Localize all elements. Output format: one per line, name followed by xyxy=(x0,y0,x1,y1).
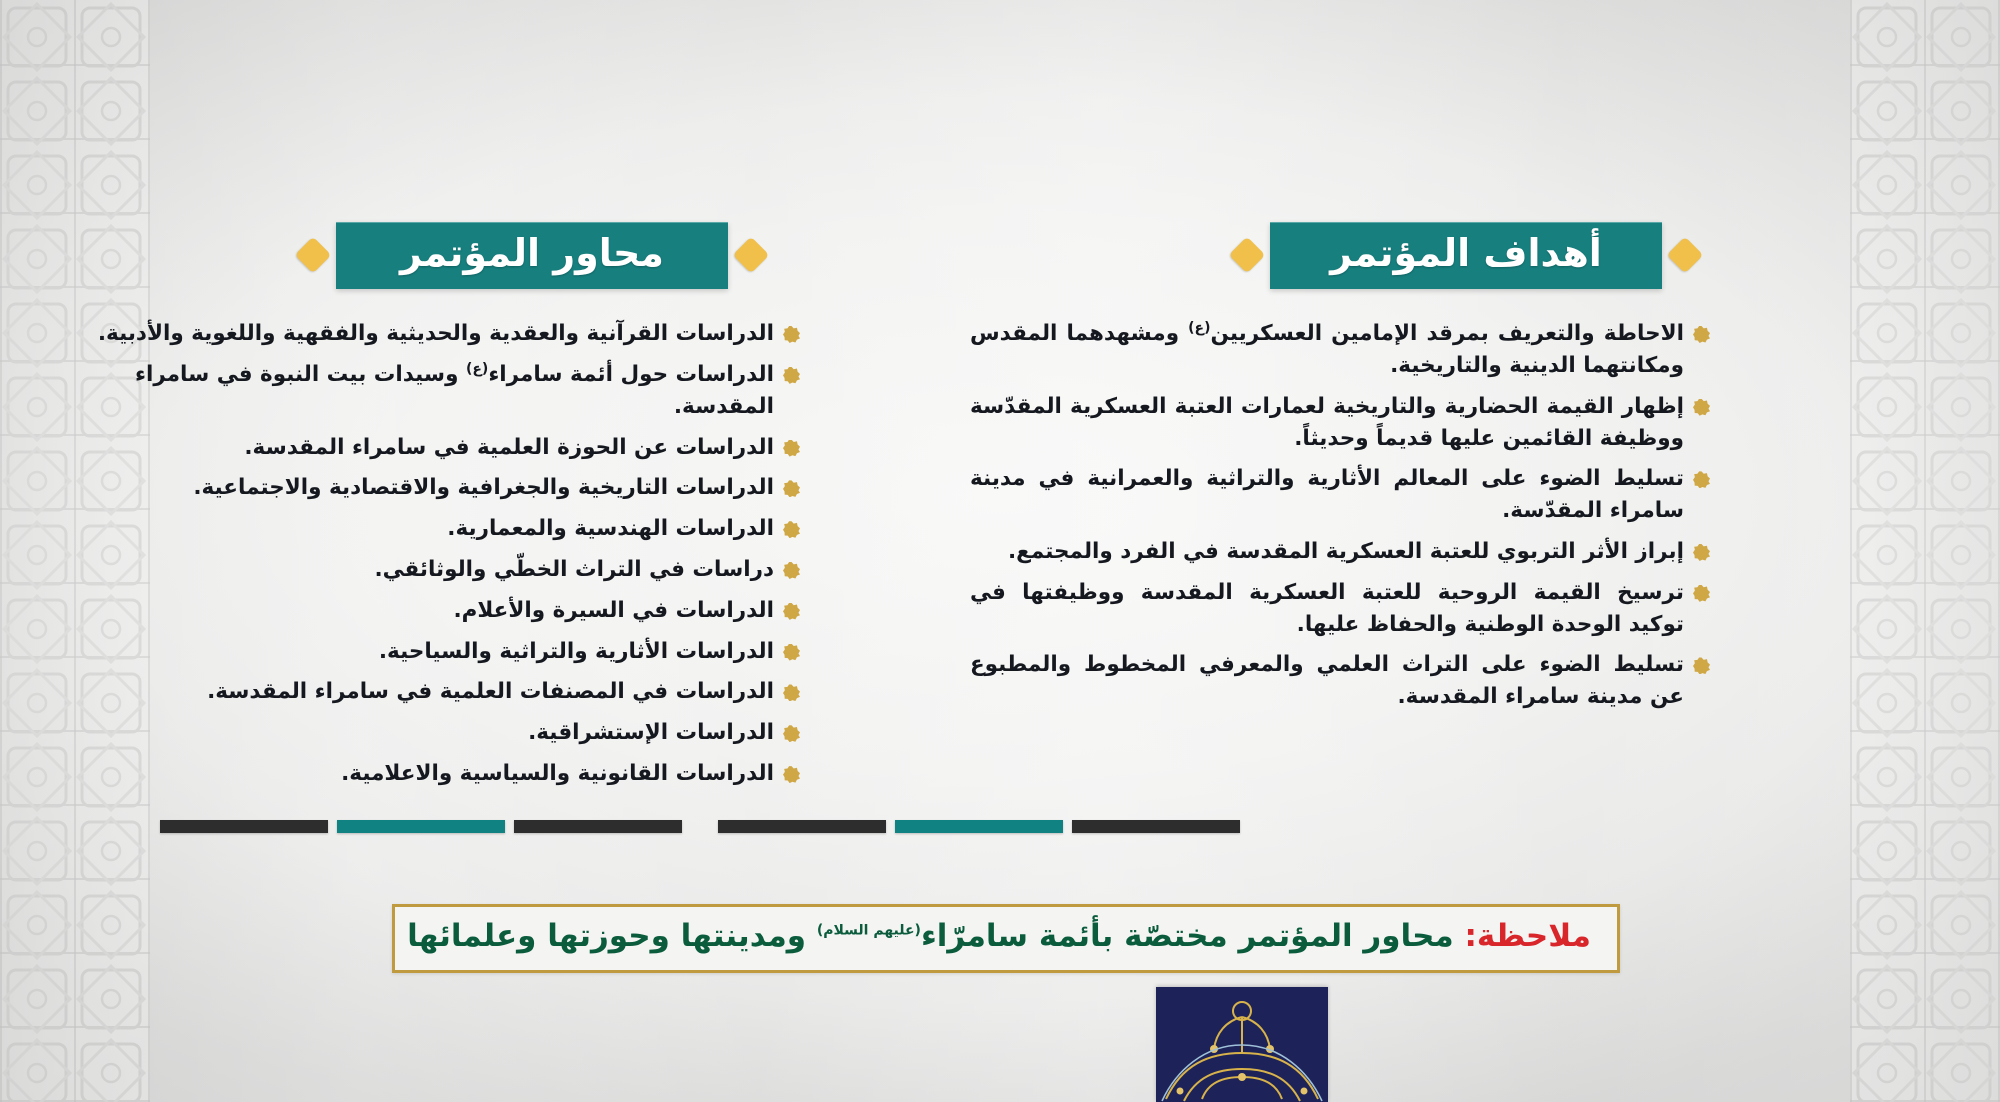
objective-item-label: إظهار القيمة الحضارية والتاريخية لعمارات… xyxy=(970,391,1684,455)
islamic-floral-tile-icon xyxy=(1156,987,1328,1102)
theme-item: الدراسات الإستشراقية. xyxy=(60,717,800,749)
theme-item: الدراسات التاريخية والجغرافية والاقتصادي… xyxy=(60,472,800,504)
objective-item: تسليط الضوء على المعالم الأثارية والتراث… xyxy=(970,463,1710,527)
bullet-star-icon xyxy=(783,603,800,620)
bullet-star-icon xyxy=(1693,399,1710,416)
objectives-column: الاحاطة والتعريف بمرقد الإمامين العسكريي… xyxy=(970,318,1710,722)
objective-item-label: إبراز الأثر التربوي للعتبة العسكرية المق… xyxy=(970,536,1684,568)
theme-item-label: الدراسات القرآنية والعقدية والحديثية وال… xyxy=(60,318,774,350)
objective-item: إبراز الأثر التربوي للعتبة العسكرية المق… xyxy=(970,536,1710,568)
theme-item-label: الدراسات الإستشراقية. xyxy=(60,717,774,749)
theme-item-label: الدراسات التاريخية والجغرافية والاقتصادي… xyxy=(60,472,774,504)
objective-item-label: تسليط الضوء على التراث العلمي والمعرفي ا… xyxy=(970,649,1684,713)
theme-item-label: الدراسات الأثارية والتراثية والسياحية. xyxy=(60,636,774,668)
bullet-star-icon xyxy=(783,480,800,497)
divider-segment-teal xyxy=(337,820,505,833)
objective-item-label: الاحاطة والتعريف بمرقد الإمامين العسكريي… xyxy=(970,318,1684,382)
theme-item-label: الدراسات في المصنفات العلمية في سامراء ا… xyxy=(60,676,774,708)
theme-item: دراسات في التراث الخطّي والوثائقي. xyxy=(60,554,800,586)
bullet-star-icon xyxy=(1693,544,1710,561)
bullet-star-icon xyxy=(783,684,800,701)
bullet-star-icon xyxy=(1693,585,1710,602)
note-label: ملاحظة: xyxy=(1465,918,1591,954)
bullet-star-icon xyxy=(783,766,800,783)
theme-item: الدراسات القرآنية والعقدية والحديثية وال… xyxy=(60,318,800,350)
objective-item-label: تسليط الضوء على المعالم الأثارية والتراث… xyxy=(970,463,1684,527)
objectives-list: الاحاطة والتعريف بمرقد الإمامين العسكريي… xyxy=(970,318,1710,713)
themes-header: محاور المؤتمر xyxy=(300,222,764,289)
objectives-header-bar: أهداف المؤتمر xyxy=(1270,222,1662,289)
theme-item-label: الدراسات حول أئمة سامراء(ع) وسيدات بيت ا… xyxy=(60,359,774,423)
theme-item: الدراسات عن الحوزة العلمية في سامراء الم… xyxy=(60,432,800,464)
divider-right xyxy=(718,820,1240,833)
bullet-star-icon xyxy=(783,326,800,343)
bullet-star-icon xyxy=(783,521,800,538)
diamond-ornament-icon xyxy=(733,237,770,274)
note-banner: ملاحظة: محاور المؤتمر مختصّة بأئمة سامرّ… xyxy=(392,904,1620,973)
bullet-star-icon xyxy=(783,562,800,579)
theme-item: الدراسات الهندسية والمعمارية. xyxy=(60,513,800,545)
divider-segment-teal xyxy=(895,820,1063,833)
theme-item: الدراسات القانونية والسياسية والاعلامية. xyxy=(60,758,800,790)
theme-item: الدراسات في السيرة والأعلام. xyxy=(60,595,800,627)
themes-title: محاور المؤتمر xyxy=(400,231,664,275)
theme-item-label: الدراسات الهندسية والمعمارية. xyxy=(60,513,774,545)
diamond-ornament-icon xyxy=(295,237,332,274)
theme-item-label: دراسات في التراث الخطّي والوثائقي. xyxy=(60,554,774,586)
diamond-ornament-icon xyxy=(1667,237,1704,274)
objective-item: الاحاطة والتعريف بمرقد الإمامين العسكريي… xyxy=(970,318,1710,382)
theme-item-label: الدراسات عن الحوزة العلمية في سامراء الم… xyxy=(60,432,774,464)
bullet-star-icon xyxy=(783,367,800,384)
theme-item: الدراسات الأثارية والتراثية والسياحية. xyxy=(60,636,800,668)
objectives-title: أهداف المؤتمر xyxy=(1330,231,1602,275)
theme-item-label: الدراسات في السيرة والأعلام. xyxy=(60,595,774,627)
note-body: محاور المؤتمر مختصّة بأئمة سامرّاء(عليهم… xyxy=(407,918,1454,954)
bullet-star-icon xyxy=(783,440,800,457)
divider-segment-dark xyxy=(514,820,682,833)
divider-segment-dark xyxy=(160,820,328,833)
divider-left xyxy=(160,820,682,833)
themes-list: الدراسات القرآنية والعقدية والحديثية وال… xyxy=(60,318,800,790)
objective-item-label: ترسيخ القيمة الروحية للعتبة العسكرية الم… xyxy=(970,577,1684,641)
bullet-star-icon xyxy=(1693,326,1710,343)
divider-segment-dark xyxy=(1072,820,1240,833)
objectives-header: أهداف المؤتمر xyxy=(1234,222,1698,289)
objective-item: تسليط الضوء على التراث العلمي والمعرفي ا… xyxy=(970,649,1710,713)
bullet-star-icon xyxy=(783,725,800,742)
objective-item: ترسيخ القيمة الروحية للعتبة العسكرية الم… xyxy=(970,577,1710,641)
bullet-star-icon xyxy=(783,644,800,661)
themes-header-bar: محاور المؤتمر xyxy=(336,222,728,289)
bullet-star-icon xyxy=(1693,471,1710,488)
diamond-ornament-icon xyxy=(1229,237,1266,274)
themes-column: الدراسات القرآنية والعقدية والحديثية وال… xyxy=(60,318,800,799)
bullet-star-icon xyxy=(1693,657,1710,674)
theme-item: الدراسات حول أئمة سامراء(ع) وسيدات بيت ا… xyxy=(60,359,800,423)
divider-segment-dark xyxy=(718,820,886,833)
theme-item-label: الدراسات القانونية والسياسية والاعلامية. xyxy=(60,758,774,790)
objective-item: إظهار القيمة الحضارية والتاريخية لعمارات… xyxy=(970,391,1710,455)
theme-item: الدراسات في المصنفات العلمية في سامراء ا… xyxy=(60,676,800,708)
